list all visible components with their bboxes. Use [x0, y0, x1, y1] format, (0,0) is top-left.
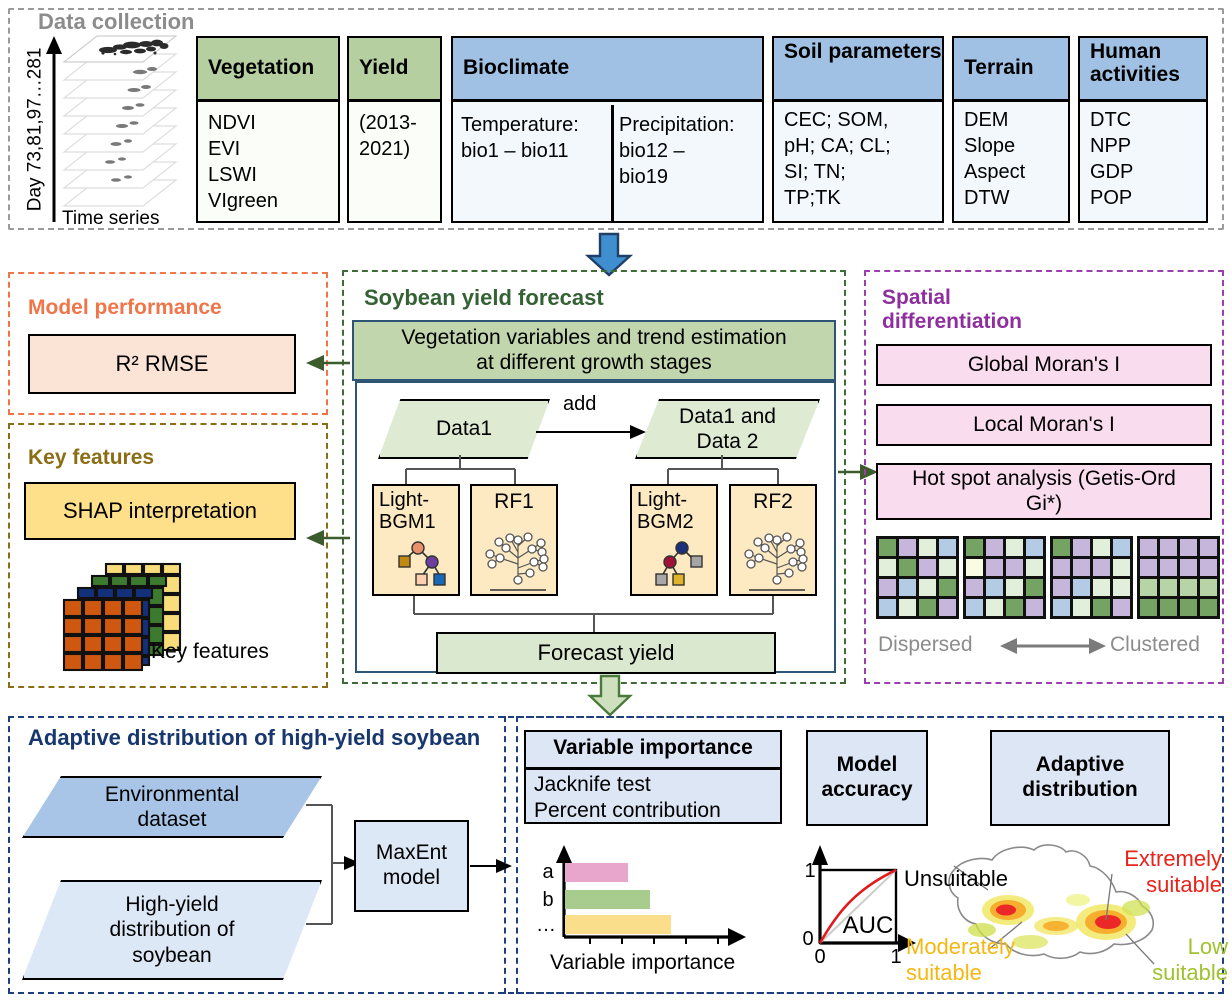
spatial-grid-cell [986, 579, 1003, 596]
spatial-grid-cell [1093, 539, 1110, 556]
model-performance-metrics-box: R² RMSE [28, 334, 296, 394]
spatial-grid-cell [1200, 539, 1217, 556]
spatial-grid-cell [1006, 539, 1023, 556]
spatial-grid-cell [1053, 539, 1070, 556]
variable-importance-header: Variable importance [526, 736, 780, 760]
spatial-grid-cell [879, 579, 896, 596]
svg-text:…: … [536, 914, 556, 936]
data1-node: Data1 [378, 399, 550, 459]
forecast-to-performance-arrow-icon [306, 352, 352, 374]
card-terrain-body: DEM Slope Aspect DTW [954, 102, 1068, 211]
model-box-lightbgm2: Light- BGM2 [630, 484, 718, 596]
key-features-shap-box: SHAP interpretation [24, 482, 296, 540]
spatial-grid-cell [939, 579, 956, 596]
spatial-box-global-moran-label: Global Moran's I [968, 353, 1120, 378]
map-label-extremely-suitable: Extremely suitable [1124, 846, 1222, 899]
spatial-grid-cell [879, 539, 896, 556]
spatial-scale-left-label: Dispersed [878, 632, 973, 657]
spatial-grid-cell [939, 539, 956, 556]
card-human-activities-body: DTC NPP GDP POP [1080, 102, 1206, 211]
spatial-differentiation-title: Spatial differentiation [882, 286, 1022, 333]
card-human-activities: Human activities DTC NPP GDP POP [1078, 36, 1208, 223]
spatial-grid-cell [1073, 539, 1090, 556]
maxent-model-label: MaxEnt model [376, 841, 447, 891]
svg-text:1: 1 [804, 860, 815, 882]
card-yield-header: Yield [349, 38, 440, 102]
spatial-grid-cell [1006, 579, 1023, 596]
card-human-activities-header: Human activities [1080, 38, 1206, 102]
spatial-scale-right-label: Clustered [1110, 632, 1200, 657]
svg-text:0: 0 [814, 946, 825, 968]
svg-text:0: 0 [802, 928, 813, 950]
spatial-grid-cell [1113, 539, 1130, 556]
spatial-grid-cell [899, 539, 916, 556]
workflow-diagram: Data collection Day 73,81,97…281 [0, 0, 1232, 1002]
data1-label: Data1 [378, 399, 550, 459]
spatial-grid-cell [1160, 539, 1177, 556]
forecast-to-keyfeatures-arrow-icon [306, 527, 352, 549]
spatial-grid-cell [1113, 559, 1130, 576]
card-vegetation-header: Vegetation [198, 38, 338, 102]
model-box-rf2: RF2 [729, 484, 817, 596]
card-vegetation: Vegetation NDVI EVI LSWI VIgreen [196, 36, 340, 223]
spatial-grid-cell [1200, 559, 1217, 576]
spatial-box-local-moran: Local Moran's I [876, 404, 1212, 446]
svg-text:AUC: AUC [843, 912, 894, 939]
model-box-rf1: RF1 [470, 484, 558, 596]
svg-text:a: a [542, 861, 554, 883]
spatial-grid-cell [1026, 579, 1043, 596]
spatial-grid-cell [1053, 599, 1070, 616]
adaptive-distribution-title: Adaptive distribution of high-yield soyb… [28, 726, 480, 751]
timeseries-stack-icon [60, 36, 190, 214]
spatial-grid-cell [1160, 559, 1177, 576]
spatial-grid-cell [986, 539, 1003, 556]
key-features-title: Key features [28, 446, 154, 470]
spatial-grid-cell [1113, 599, 1130, 616]
spatial-grid-3 [1050, 536, 1133, 619]
variable-importance-axis-caption: Variable importance [550, 950, 735, 975]
card-vegetation-body: NDVI EVI LSWI VIgreen [198, 102, 338, 214]
spatial-grid-cell [919, 579, 936, 596]
spatial-grid-cell [919, 559, 936, 576]
variable-importance-chart: a b … [546, 845, 766, 945]
models-merge-connector [404, 596, 804, 634]
spatial-grid-cell [1073, 559, 1090, 576]
spatial-grid-cell [899, 599, 916, 616]
spatial-grid-cell [1140, 559, 1157, 576]
spatial-grid-cell [1006, 599, 1023, 616]
model-box-rf2-label: RF2 [731, 490, 815, 514]
spatial-grid-cell [966, 539, 983, 556]
maxent-model-box: MaxEnt model [354, 820, 469, 912]
add-label: add [563, 392, 596, 416]
spatial-grid-cell [1200, 579, 1217, 596]
spatial-grid-cell [939, 559, 956, 576]
model-box-rf1-label: RF1 [472, 490, 556, 514]
spatial-grid-cell [966, 599, 983, 616]
spatial-grid-cell [1026, 599, 1043, 616]
spatial-grid-cell [939, 599, 956, 616]
data2-branch-connector [630, 455, 820, 487]
spatial-grid-cell [919, 599, 936, 616]
model-performance-metrics-label: R² RMSE [116, 351, 209, 377]
variable-importance-divider [526, 767, 780, 770]
spatial-grid-cell [1140, 599, 1157, 616]
spatial-grid-cell [1093, 599, 1110, 616]
model-accuracy-label: Model accuracy [821, 753, 912, 803]
spatial-grid-cell [1180, 599, 1197, 616]
map-label-moderately-suitable: Moderately suitable [906, 934, 1015, 987]
spatial-grid-cell [1180, 579, 1197, 596]
model-box-lightbgm1: Light- BGM1 [372, 484, 460, 596]
spatial-grid-4 [1137, 536, 1220, 619]
spatial-box-local-moran-label: Local Moran's I [973, 413, 1115, 438]
spatial-grid-cell [1140, 539, 1157, 556]
spatial-box-global-moran: Global Moran's I [876, 344, 1212, 386]
spatial-grid-cell [879, 559, 896, 576]
data2-node: Data1 and Data 2 [635, 399, 820, 459]
card-terrain-header: Terrain [954, 38, 1068, 102]
adaptive-distribution-card: Adaptive distribution [990, 730, 1170, 826]
card-terrain: Terrain DEM Slope Aspect DTW [952, 36, 1070, 223]
spatial-grid-cell [1093, 579, 1110, 596]
timeseries-caption: Time series [62, 208, 159, 231]
card-yield: Yield (2013- 2021) [347, 36, 442, 223]
spatial-grid-cell [1200, 599, 1217, 616]
spatial-grid-row [876, 536, 1216, 612]
spatial-box-hotspot: Hot spot analysis (Getis-Ord Gi*) [876, 463, 1212, 520]
spatial-grid-cell [1160, 599, 1177, 616]
spatial-grid-cell [1160, 579, 1177, 596]
inputs-to-maxent-connector [300, 805, 360, 930]
card-bioclimate-header: Bioclimate [453, 38, 762, 102]
environmental-dataset-node: Environmental dataset [22, 776, 322, 838]
data-collection-title: Data collection [38, 10, 194, 35]
adaptive-distribution-card-label: Adaptive distribution [1022, 753, 1137, 803]
model-box-lightbgm2-label: Light- BGM2 [637, 489, 694, 533]
model-performance-title: Model performance [28, 296, 222, 320]
variable-importance-card: Variable importance Jacknife test Percen… [524, 730, 782, 824]
spatial-grid-cell [899, 559, 916, 576]
variable-importance-body: Jacknife test Percent contribution [534, 772, 721, 825]
highyield-distribution-node: High-yield distribution of soybean [22, 880, 322, 980]
spatial-grid-cell [1053, 579, 1070, 596]
soybean-forecast-title: Soybean yield forecast [364, 286, 604, 311]
key-features-cube-caption: Key features [151, 639, 269, 664]
add-arrow-icon [536, 418, 648, 440]
spatial-grid-cell [899, 579, 916, 596]
card-bioclimate-temperature: Temperature: bio1 – bio11 [461, 112, 606, 164]
spatial-grid-cell [966, 559, 983, 576]
card-soil-parameters: Soil parameters CEC; SOM, pH; CA; CL; SI… [772, 36, 944, 223]
map-label-unsuitable: Unsuitable [904, 866, 1008, 892]
spatial-grid-cell [1180, 559, 1197, 576]
spatial-grid-cell [1026, 559, 1043, 576]
card-bioclimate-precipitation: Precipitation: bio12 – bio19 [619, 112, 764, 190]
svg-text:1: 1 [890, 946, 901, 968]
card-soil-parameters-header: Soil parameters [774, 38, 942, 102]
spatial-grid-cell [966, 579, 983, 596]
spatial-grid-cell [1093, 559, 1110, 576]
spatial-grid-2 [963, 536, 1046, 619]
data2-label: Data1 and Data 2 [635, 399, 820, 459]
spatial-grid-cell [1053, 559, 1070, 576]
spatial-grid-cell [1073, 599, 1090, 616]
spatial-grid-cell [986, 599, 1003, 616]
spatial-grid-cell [879, 599, 896, 616]
card-bioclimate: Bioclimate Temperature: bio1 – bio11 Pre… [451, 36, 764, 223]
card-soil-parameters-body: CEC; SOM, pH; CA; CL; SI; TN; TP;TK [774, 102, 942, 211]
spatial-scale-double-arrow-icon [1000, 634, 1106, 658]
spatial-grid-cell [1073, 579, 1090, 596]
down-arrow-green-icon [588, 676, 632, 716]
data1-branch-connector [372, 455, 562, 487]
maxent-to-results-arrow-icon [470, 855, 514, 877]
spatial-box-hotspot-label: Hot spot analysis (Getis-Ord Gi*) [912, 467, 1176, 517]
forecast-yield-box: Forecast yield [436, 632, 776, 674]
spatial-grid-cell [1026, 539, 1043, 556]
key-features-shap-label: SHAP interpretation [63, 498, 257, 524]
spatial-grid-1 [876, 536, 959, 619]
map-label-low-suitable: Low suitable [1152, 934, 1228, 987]
spatial-grid-cell [1180, 539, 1197, 556]
soybean-forecast-header-box: Vegetation variables and trend estimatio… [352, 320, 836, 381]
environmental-dataset-label: Environmental dataset [22, 776, 322, 838]
card-yield-body: (2013- 2021) [349, 102, 440, 162]
spatial-grid-cell [1113, 579, 1130, 596]
model-accuracy-card: Model accuracy [806, 730, 928, 826]
spatial-grid-cell [986, 559, 1003, 576]
forecast-yield-label: Forecast yield [538, 640, 675, 666]
svg-text:b: b [542, 889, 553, 911]
highyield-distribution-label: High-yield distribution of soybean [22, 880, 322, 980]
card-bioclimate-divider [611, 105, 614, 221]
spatial-grid-cell [1140, 579, 1157, 596]
soybean-forecast-header-label: Vegetation variables and trend estimatio… [401, 326, 786, 376]
spatial-grid-cell [1006, 559, 1023, 576]
spatial-grid-cell [919, 539, 936, 556]
model-box-lightbgm1-label: Light- BGM1 [379, 489, 436, 533]
